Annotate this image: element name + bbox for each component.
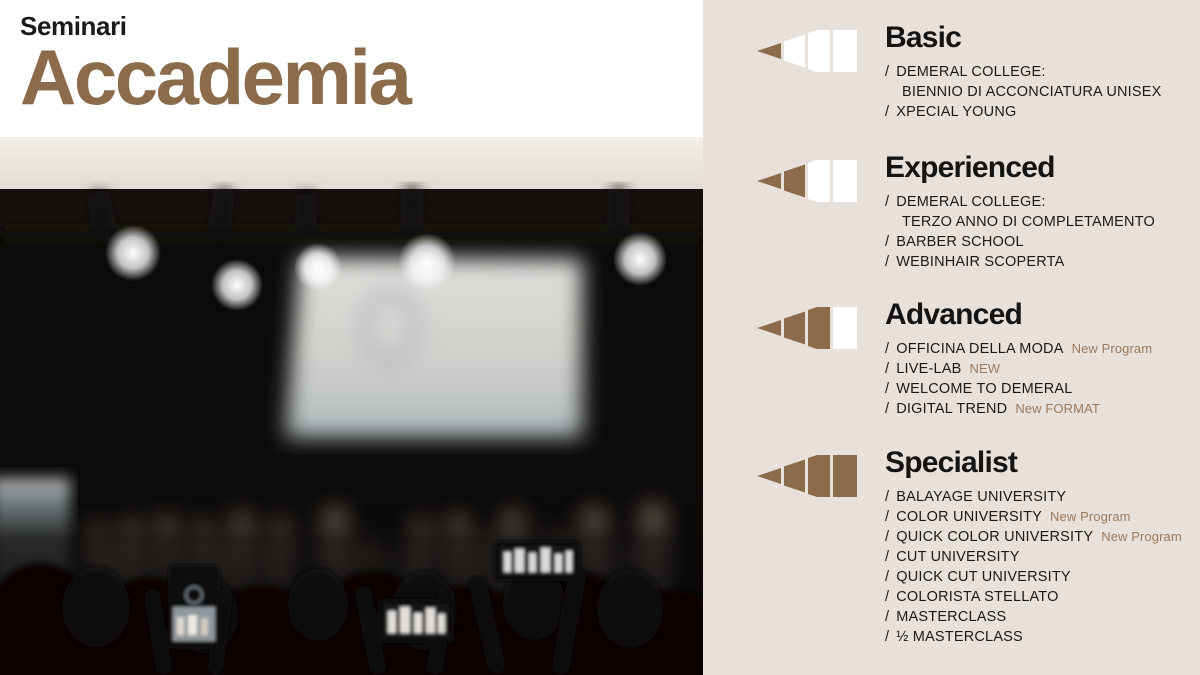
program-list: /OFFICINA DELLA MODANew Program /LIVE-LA… [885, 339, 1152, 419]
program-section-experienced: Experienced /DEMERAL COLLEGE: TERZO ANNO… [703, 152, 1155, 272]
list-item[interactable]: /½ MASTERCLASS [885, 627, 1182, 647]
program-label: COLOR UNIVERSITY [896, 507, 1042, 527]
section-body: Specialist /BALAYAGE UNIVERSITY /COLOR U… [885, 447, 1182, 647]
program-label: QUICK CUT UNIVERSITY [896, 567, 1071, 587]
bullet-slash: / [885, 102, 889, 122]
chevron-arrow-icon [757, 307, 862, 349]
section-title: Basic [885, 22, 1162, 54]
program-list: /BALAYAGE UNIVERSITY /COLOR UNIVERSITYNe… [885, 487, 1182, 647]
bullet-slash: / [885, 527, 889, 547]
event-photo [0, 137, 703, 675]
program-label: BALAYAGE UNIVERSITY [896, 487, 1066, 507]
list-item[interactable]: /LIVE-LABNEW [885, 359, 1152, 379]
program-label: DIGITAL TREND [896, 399, 1007, 419]
title-block: Seminari Accademia [0, 0, 703, 137]
program-label: DEMERAL COLLEGE: [896, 62, 1045, 82]
section-title: Experienced [885, 152, 1155, 184]
program-sublabel: TERZO ANNO DI COMPLETAMENTO [885, 212, 1155, 232]
program-section-basic: Basic /DEMERAL COLLEGE: BIENNIO DI ACCON… [703, 22, 1162, 122]
bullet-slash: / [885, 587, 889, 607]
bullet-slash: / [885, 607, 889, 627]
program-label: ½ MASTERCLASS [896, 627, 1023, 647]
list-item[interactable]: /COLOR UNIVERSITYNew Program [885, 507, 1182, 527]
level-arrow-specialist [757, 455, 862, 497]
bullet-slash: / [885, 339, 889, 359]
bullet-slash: / [885, 379, 889, 399]
program-label: BARBER SCHOOL [896, 232, 1024, 252]
program-label: MASTERCLASS [896, 607, 1006, 627]
chevron-arrow-icon [757, 160, 862, 202]
status-badge: New Program [1050, 508, 1131, 526]
bullet-slash: / [885, 252, 889, 272]
program-label: XPECIAL YOUNG [896, 102, 1016, 122]
list-item[interactable]: /MASTERCLASS [885, 607, 1182, 627]
program-sublabel: BIENNIO DI ACCONCIATURA UNISEX [885, 82, 1162, 102]
list-item[interactable]: /WEBINHAIR SCOPERTA [885, 252, 1155, 272]
bullet-slash: / [885, 62, 889, 82]
list-item[interactable]: /QUICK CUT UNIVERSITY [885, 567, 1182, 587]
bullet-slash: / [885, 232, 889, 252]
level-arrow-basic [757, 30, 862, 72]
program-label: LIVE-LAB [896, 359, 961, 379]
program-label: CUT UNIVERSITY [896, 547, 1019, 567]
bullet-slash: / [885, 487, 889, 507]
level-arrow-advanced [757, 307, 862, 349]
program-list: /DEMERAL COLLEGE: TERZO ANNO DI COMPLETA… [885, 192, 1155, 272]
bullet-slash: / [885, 192, 889, 212]
list-item[interactable]: /WELCOME TO DEMERAL [885, 379, 1152, 399]
program-label: OFFICINA DELLA MODA [896, 339, 1063, 359]
bullet-slash: / [885, 359, 889, 379]
status-badge: NEW [970, 360, 1001, 378]
bullet-slash: / [885, 547, 889, 567]
program-list: /DEMERAL COLLEGE: BIENNIO DI ACCONCIATUR… [885, 62, 1162, 122]
list-item[interactable]: /DEMERAL COLLEGE: TERZO ANNO DI COMPLETA… [885, 192, 1155, 232]
list-item[interactable]: /DEMERAL COLLEGE: BIENNIO DI ACCONCIATUR… [885, 62, 1162, 102]
list-item[interactable]: /CUT UNIVERSITY [885, 547, 1182, 567]
bullet-slash: / [885, 627, 889, 647]
status-badge: New FORMAT [1015, 400, 1100, 418]
section-body: Basic /DEMERAL COLLEGE: BIENNIO DI ACCON… [885, 22, 1162, 122]
status-badge: New Program [1101, 528, 1182, 546]
programs-panel: Basic /DEMERAL COLLEGE: BIENNIO DI ACCON… [703, 0, 1200, 675]
left-column: Seminari Accademia [0, 0, 703, 675]
program-label: WEBINHAIR SCOPERTA [896, 252, 1064, 272]
list-item[interactable]: /XPECIAL YOUNG [885, 102, 1162, 122]
section-body: Advanced /OFFICINA DELLA MODANew Program… [885, 299, 1152, 419]
section-title: Advanced [885, 299, 1152, 331]
event-photo-illustration [0, 137, 703, 675]
list-item[interactable]: /COLORISTA STELLATO [885, 587, 1182, 607]
section-body: Experienced /DEMERAL COLLEGE: TERZO ANNO… [885, 152, 1155, 272]
program-section-advanced: Advanced /OFFICINA DELLA MODANew Program… [703, 299, 1152, 419]
chevron-arrow-icon [757, 455, 862, 497]
list-item[interactable]: /OFFICINA DELLA MODANew Program [885, 339, 1152, 359]
list-item[interactable]: /BALAYAGE UNIVERSITY [885, 487, 1182, 507]
program-label: QUICK COLOR UNIVERSITY [896, 527, 1093, 547]
program-label: WELCOME TO DEMERAL [896, 379, 1072, 399]
bullet-slash: / [885, 567, 889, 587]
slide-root: Seminari Accademia [0, 0, 1200, 675]
status-badge: New Program [1072, 340, 1153, 358]
list-item[interactable]: /DIGITAL TRENDNew FORMAT [885, 399, 1152, 419]
bullet-slash: / [885, 507, 889, 527]
section-title: Specialist [885, 447, 1182, 479]
list-item[interactable]: /QUICK COLOR UNIVERSITYNew Program [885, 527, 1182, 547]
program-label: DEMERAL COLLEGE: [896, 192, 1045, 212]
level-arrow-experienced [757, 160, 862, 202]
page-title: Accademia [20, 40, 703, 114]
list-item[interactable]: /BARBER SCHOOL [885, 232, 1155, 252]
chevron-arrow-icon [757, 30, 862, 72]
bullet-slash: / [885, 399, 889, 419]
program-label: COLORISTA STELLATO [896, 587, 1058, 607]
program-section-specialist: Specialist /BALAYAGE UNIVERSITY /COLOR U… [703, 447, 1182, 647]
